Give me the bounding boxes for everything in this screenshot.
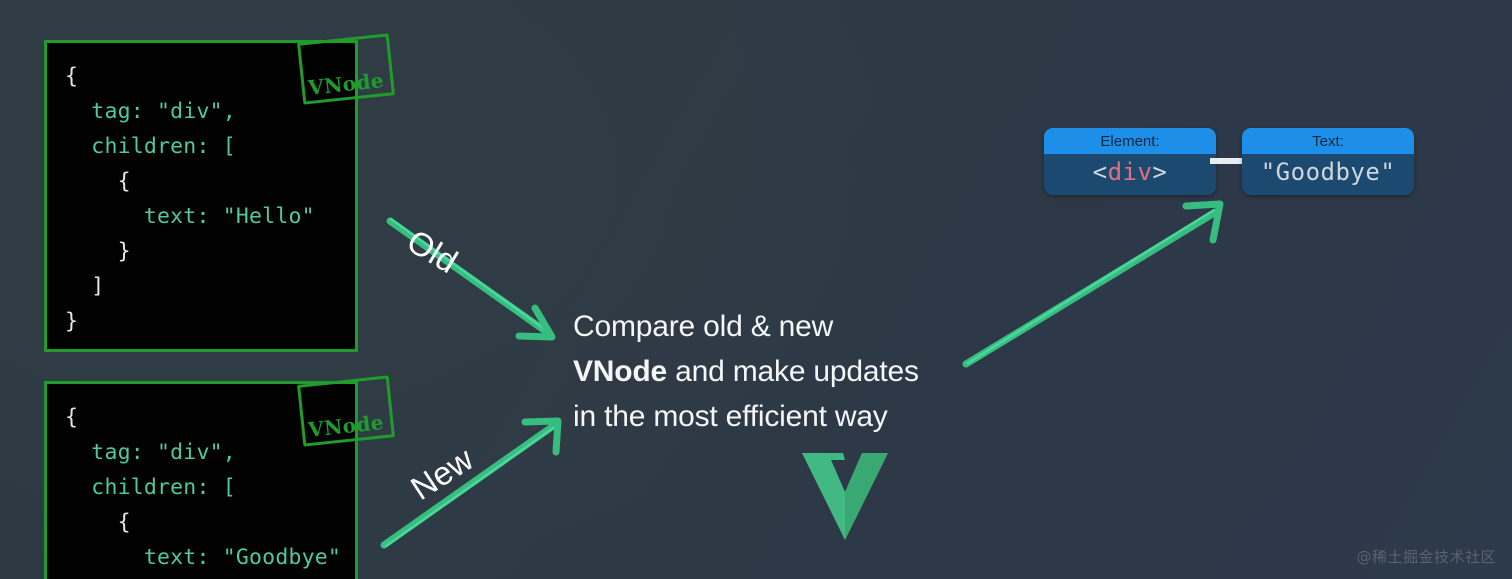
angle-bracket-open: < — [1093, 158, 1108, 186]
dom-node-element-value: <div> — [1044, 154, 1216, 195]
explanation-line-3: in the most efficient way — [573, 400, 888, 433]
code-card-old-vnode: { tag: "div", children: [ { text: "Hello… — [44, 40, 358, 352]
arrow-to-dom — [966, 204, 1220, 364]
code-text-old: { tag: "div", children: [ { text: "Hello… — [47, 43, 355, 349]
dom-node-text-header: Text: — [1242, 128, 1414, 154]
explanation-line-2: and make updates — [667, 355, 919, 388]
code-text-new: { tag: "div", children: [ { text: "Goodb… — [47, 384, 355, 579]
slide-canvas: { tag: "div", children: [ { text: "Hello… — [0, 0, 1512, 579]
arrow-label-old: Old — [400, 222, 464, 281]
arrow-label-new: New — [404, 440, 480, 508]
dom-node-text: Text: "Goodbye" — [1242, 128, 1414, 195]
explanation-text: Compare old & new VNode and make updates… — [573, 304, 993, 439]
dom-node-tag-name: div — [1108, 158, 1153, 186]
vue-logo-icon — [802, 453, 888, 540]
dom-node-element: Element: <div> — [1044, 128, 1216, 195]
explanation-emphasis: VNode — [573, 355, 667, 388]
dom-node-element-header: Element: — [1044, 128, 1216, 154]
angle-bracket-close: > — [1152, 158, 1167, 186]
watermark: @稀土掘金技术社区 — [1356, 546, 1496, 567]
explanation-line-1: Compare old & new — [573, 310, 833, 343]
dom-node-text-value: "Goodbye" — [1242, 154, 1414, 195]
code-card-new-vnode: { tag: "div", children: [ { text: "Goodb… — [44, 381, 358, 579]
